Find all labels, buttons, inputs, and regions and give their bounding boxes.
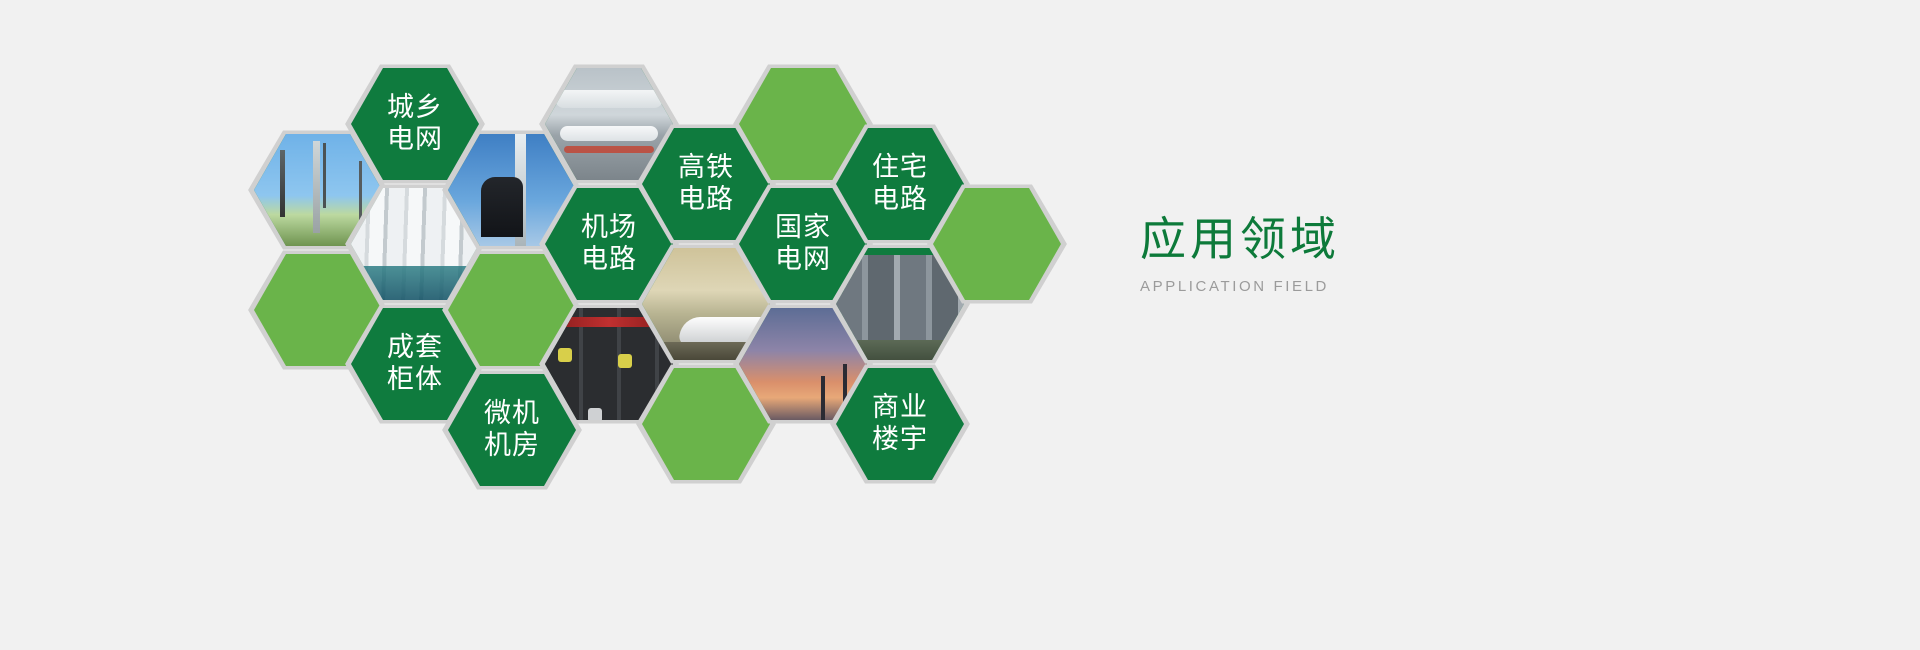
hex-label: 商业 楼宇: [872, 392, 928, 456]
page-subtitle: APPLICATION FIELD: [1140, 278, 1340, 295]
hex-label: 住宅 电路: [872, 152, 928, 216]
hex-label: 国家 电网: [775, 212, 831, 276]
page-title: 应用领域: [1140, 216, 1340, 262]
hex-label: 微机 机房: [484, 398, 540, 462]
heading-block: 应用领域 APPLICATION FIELD: [1140, 216, 1340, 295]
application-field-banner: 城乡 电网成套 柜体微机 机房机场 电路高铁 电路国家 电网住宅 电路商业 楼宇…: [0, 0, 1920, 650]
hex-label: 成套 柜体: [387, 332, 443, 396]
hex-label: 城乡 电网: [387, 92, 443, 156]
hex-label: 高铁 电路: [678, 152, 734, 216]
hex-label: 机场 电路: [581, 212, 637, 276]
